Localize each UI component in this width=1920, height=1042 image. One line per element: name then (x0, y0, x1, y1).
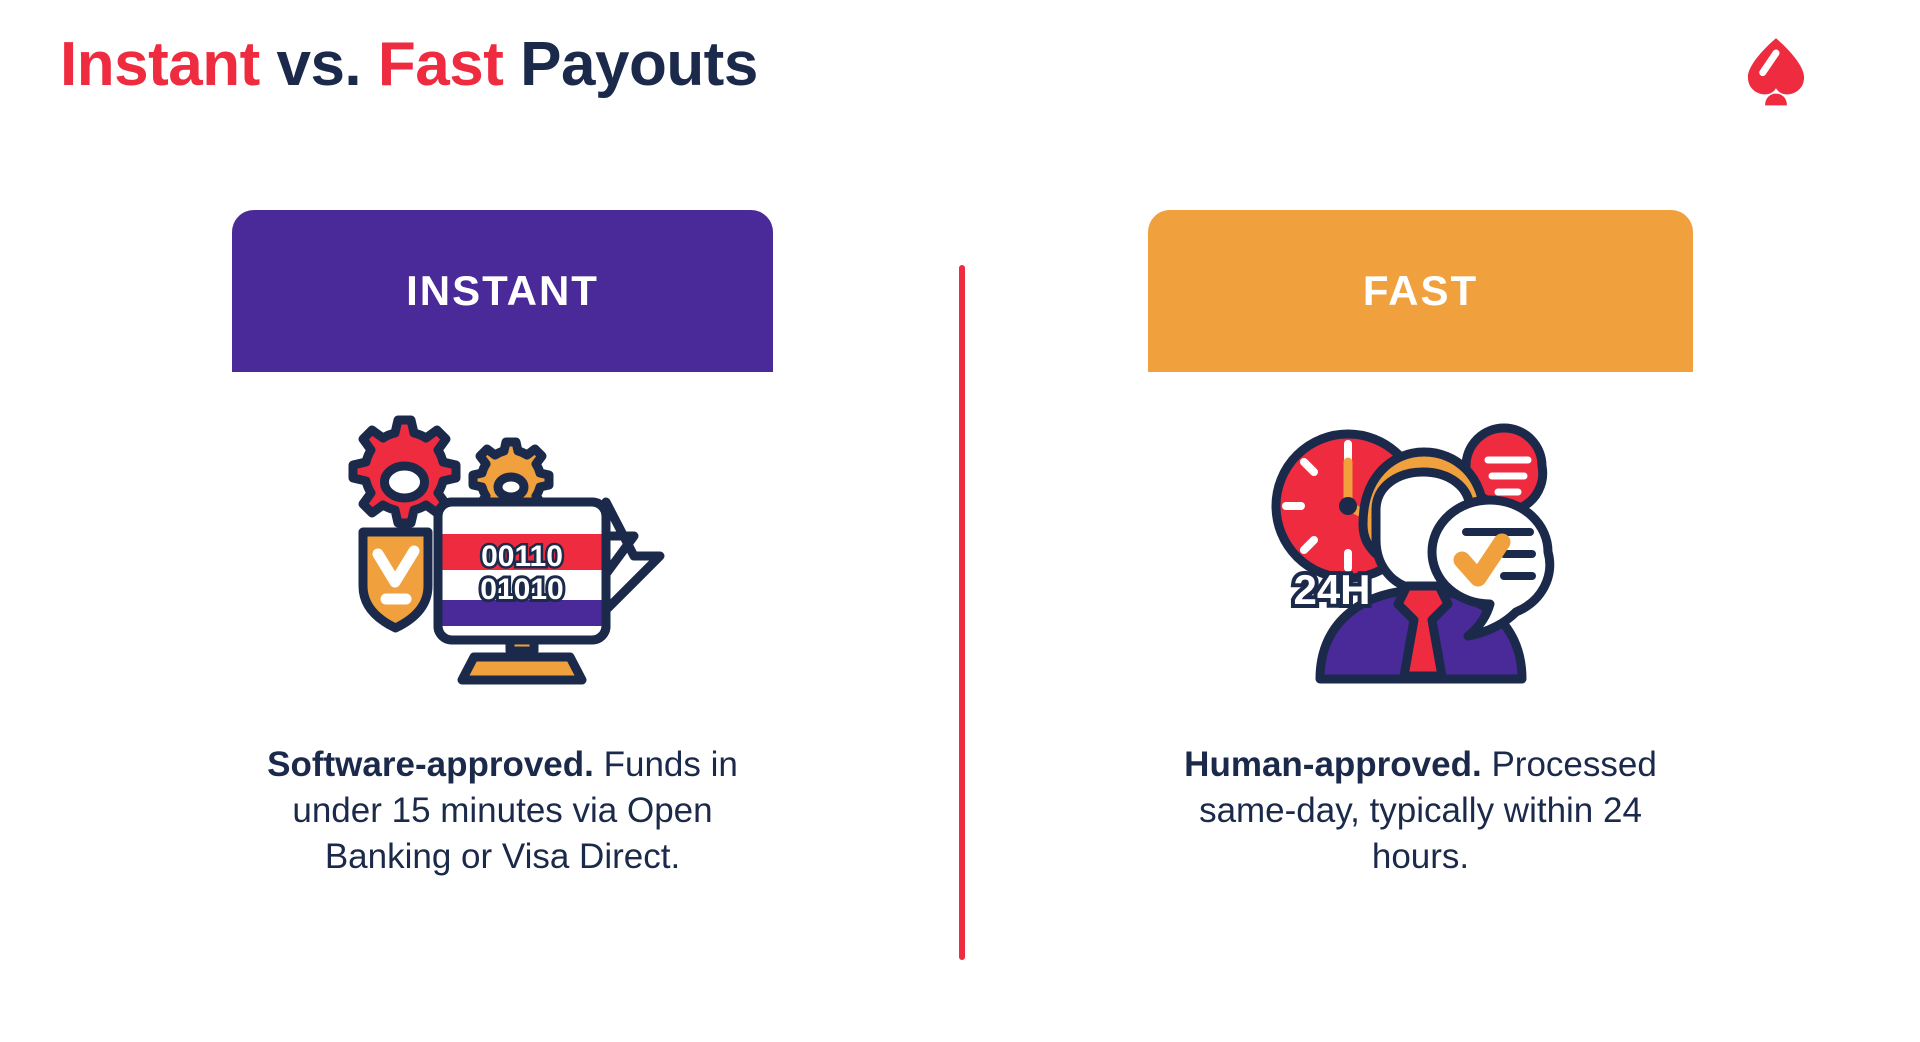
binary-top: 00110 (481, 540, 563, 573)
caption-instant: Software-approved. Funds in under 15 min… (232, 742, 773, 881)
instant-illustration: 00110 01010 (232, 414, 773, 704)
column-instant: INSTANT (232, 210, 773, 881)
gears-shield-monitor-binary-bolt-icon: 00110 01010 (338, 414, 668, 704)
clock-person-approval-icon: 24H (1256, 414, 1586, 704)
fast-illustration: 24H (1148, 414, 1693, 704)
column-fast: FAST (1148, 210, 1693, 881)
column-header-instant: INSTANT (232, 210, 773, 372)
shield-check-icon (363, 532, 428, 628)
bolt-arrow-icon (606, 502, 660, 610)
column-header-fast: FAST (1148, 210, 1693, 372)
caption-lead-instant: Software-approved. (267, 745, 594, 784)
column-divider (959, 265, 965, 960)
column-label-fast: FAST (1363, 267, 1478, 315)
binary-bottom: 01010 (480, 573, 563, 606)
comparison-area: INSTANT (0, 0, 1920, 1042)
caption-fast: Human-approved. Processed same-day, typi… (1148, 742, 1693, 881)
clock-label-24h: 24H (1293, 566, 1370, 613)
caption-lead-fast: Human-approved. (1184, 745, 1482, 784)
column-label-instant: INSTANT (406, 267, 599, 315)
